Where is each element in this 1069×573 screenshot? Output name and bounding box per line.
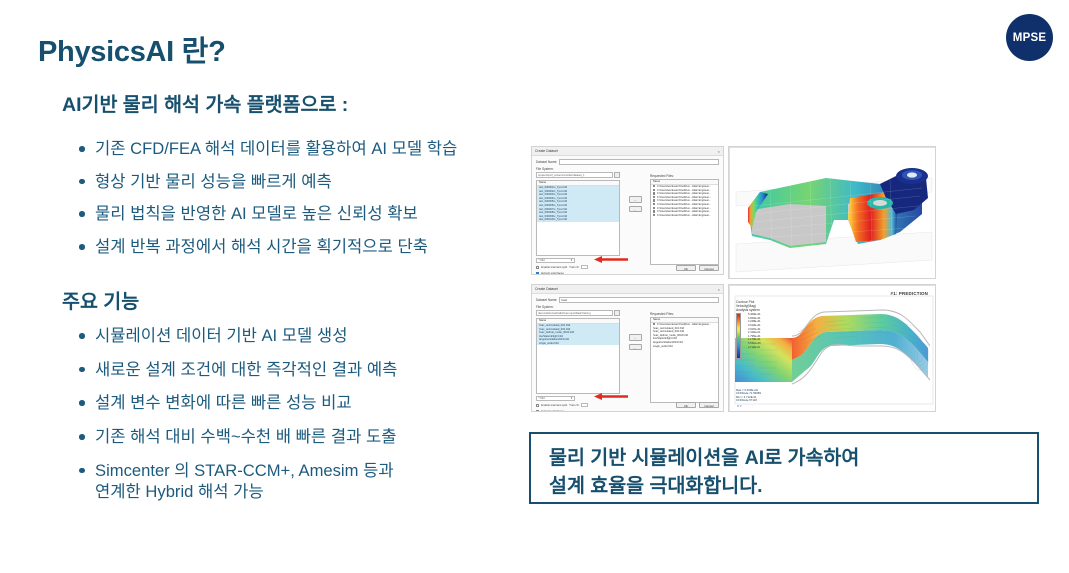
fea-viewport (729, 147, 935, 278)
dialog-footer: Ok Cancel (676, 265, 719, 272)
chevron-down-icon: ▾ (571, 396, 573, 402)
list-item: 기존 해석 대비 수백~수천 배 빠른 결과 도출 (78, 426, 397, 447)
cancel-button[interactable]: Cancel (699, 402, 719, 409)
mpse-logo: MPSE (1006, 14, 1053, 61)
red-arrow-annotation (594, 256, 628, 263)
list-item: 물리 법칙을 반영한 AI 모델로 높은 신뢰성 확보 (78, 203, 457, 224)
features-heading: 주요 기능 (62, 285, 139, 314)
extract-row[interactable]: Extract solid faces (536, 271, 620, 275)
split-pct-input[interactable] (581, 403, 588, 407)
axis-x-label: X (737, 404, 739, 408)
summary-callout-box: 물리 기반 시뮬레이션을 AI로 가속하여 설계 효율을 극대화합니다. (529, 432, 1039, 504)
cancel-button[interactable]: Cancel (699, 265, 719, 272)
extract-label: Extract solid faces (541, 271, 564, 275)
list-item: 설계 반복 과정에서 해석 시간을 획기적으로 단축 (78, 236, 457, 257)
screenshot-create-dataset-2: Create Dataset × Dataset Name: hvac File… (531, 284, 724, 412)
list-item-label: C:\Users\workuser\OneDrive - Altair Engi… (657, 214, 711, 217)
split-pct-input[interactable] (581, 265, 588, 269)
row-checkbox[interactable] (653, 214, 655, 216)
dataset-name-row: Dataset Name: (536, 159, 719, 165)
mpse-logo-text: MPSE (1013, 32, 1046, 44)
browse-button[interactable] (614, 172, 620, 178)
legend-colorbar (736, 313, 741, 359)
screenshot-fea-contour (728, 146, 936, 279)
list-item-label: C:\Users\workuser\OneDrive - Altair Engi… (657, 210, 711, 213)
available-files-list[interactable]: Name hvac_recirculated_001.h3d hvac_reci… (536, 318, 620, 394)
list-item: 설계 변수 변화에 따른 빠른 성능 비교 (78, 392, 397, 413)
file-filter-select[interactable]: *.h3d ▾ (536, 258, 575, 264)
list-item-label: C:\Users\workuser\OneDrive - Altair Engi… (657, 199, 711, 202)
path-row: /projects/ps/f_solver/controller/dataset… (536, 172, 620, 178)
cfd-minmax-annotation: Max = 5.460E+01 CFDNode 71.59689 Min = 4… (736, 389, 761, 404)
create-dataset-dialog: Create Dataset × Dataset Name: hvac File… (532, 285, 723, 411)
split-row[interactable]: Enable train/test split Train %: (536, 403, 620, 407)
requested-files-column: Requested Files: Name C:\Users\workuser\… (650, 310, 719, 403)
create-dataset-dialog: Create Dataset × Dataset Name: File Syst… (532, 147, 723, 274)
available-files-list[interactable]: Name test_000001rs_Tyre.h3d test_000002r… (536, 180, 620, 256)
row-checkbox[interactable] (653, 210, 655, 212)
path-row: /demo/HistoricalCalls/hvac-input/DataTra… (536, 310, 620, 316)
slide-root: MPSE PhysicsAI 란? AI기반 물리 해석 가속 플랫폼으로 : … (0, 0, 1069, 573)
cfd-legend: Contour Plot Velocity(Mag) Analysis syst… (736, 300, 760, 359)
add-files-button[interactable]: → (629, 196, 642, 203)
intro-bullet-list: 기존 CFD/FEA 해석 데이터를 활용하여 AI 모델 학습 형상 기반 물… (78, 138, 457, 269)
legend-tick-values: 5.460E+01 4.844E+01 4.228E+01 3.612E+01 … (748, 313, 761, 349)
dialog-title: Create Dataset (535, 149, 558, 153)
axis-triad-icon: X Y (737, 404, 742, 408)
row-checkbox[interactable] (653, 185, 655, 187)
dialog-titlebar: Create Dataset × (532, 285, 723, 294)
file-filter-value: *.h3d (539, 396, 545, 402)
page-title: PhysicsAI 란? (38, 28, 225, 70)
path-input[interactable]: /demo/HistoricalCalls/hvac-input/DataTra… (536, 310, 613, 316)
list-item-label: C:\Users\workuser\OneDrive - Altair Engi… (657, 203, 711, 206)
list-item[interactable]: test_000010rs_Tyre.h3d (537, 218, 619, 222)
list-item: 새로운 설계 조건에 대한 즉각적인 결과 예측 (78, 359, 397, 380)
row-checkbox[interactable] (653, 189, 655, 191)
extract-checkbox[interactable] (536, 272, 539, 275)
split-row[interactable]: Enable train/test split Train %: (536, 265, 620, 269)
browse-button[interactable] (614, 310, 620, 316)
dataset-name-input[interactable] (559, 159, 719, 165)
list-item-label: C:\Users\workuser\OneDrive - Altair Engi… (657, 192, 711, 195)
list-item: Simcenter 의 STAR-CCM+, Amesim 등과 연계한 Hyb… (78, 460, 397, 502)
requested-files-list[interactable]: Name C:\Users\workuser\OneDrive - Altair… (650, 317, 719, 403)
transfer-buttons: → ← (623, 310, 647, 350)
requested-files-label: Requested Files: (650, 312, 719, 316)
row-checkbox[interactable] (653, 196, 655, 198)
row-checkbox[interactable] (653, 203, 655, 205)
remove-files-button[interactable]: ← (629, 344, 642, 351)
add-files-button[interactable]: → (629, 334, 642, 341)
close-icon[interactable]: × (718, 149, 720, 154)
cfd-viewport: #1: PREDICTION Contour Plot Velocity(Mag… (729, 285, 935, 411)
list-item[interactable]: C:\Users\workuser\OneDrive - Altair Engi… (651, 213, 718, 217)
ok-button[interactable]: Ok (676, 265, 696, 272)
requested-files-column: Requested Files: Name C:\Users\workuser\… (650, 172, 719, 265)
list-item: 형상 기반 물리 성능을 빠르게 예측 (78, 171, 457, 192)
transfer-buttons: → ← (623, 172, 647, 212)
file-filter-select[interactable]: *.h3d ▾ (536, 396, 575, 402)
features-bullet-list: 시뮬레이션 데이터 기반 AI 모델 생성 새로운 설계 조건에 대한 즉각적인… (78, 325, 397, 515)
dataset-name-value: hvac (561, 298, 567, 302)
dialog-titlebar: Create Dataset × (532, 147, 723, 156)
split-checkbox[interactable] (536, 266, 539, 269)
remove-files-button[interactable]: ← (629, 206, 642, 213)
row-checkbox[interactable] (653, 192, 655, 194)
close-icon[interactable]: × (718, 287, 720, 292)
extract-label: Extract solid faces (541, 409, 564, 412)
list-item: 기존 CFD/FEA 해석 데이터를 활용하여 AI 모델 학습 (78, 138, 457, 159)
list-item[interactable]: single_outlet.h3d (651, 344, 718, 348)
row-checkbox[interactable] (653, 323, 655, 325)
file-system-label: File System: (536, 305, 719, 309)
callout-line-1: 물리 기반 시뮬레이션을 AI로 가속하여 (549, 445, 1037, 473)
path-input[interactable]: /projects/ps/f_solver/controller/dataset… (536, 172, 613, 178)
dataset-name-row: Dataset Name: hvac (536, 297, 719, 303)
extract-row[interactable]: Extract solid faces (536, 409, 620, 412)
split-pct-label: Train %: (569, 265, 579, 269)
axis-y-label: Y (740, 404, 742, 408)
chevron-down-icon: ▾ (571, 258, 573, 264)
file-system-label: File System: (536, 167, 719, 171)
legend-tick: 4.712E-01 (748, 346, 761, 350)
legend-system: Analysis system (736, 308, 760, 312)
split-label: Enable train/test split (541, 403, 567, 407)
list-item[interactable]: single_outlet.h3d (537, 342, 619, 346)
dataset-name-label: Dataset Name: (536, 298, 557, 302)
screenshot-create-dataset-1: Create Dataset × Dataset Name: File Syst… (531, 146, 724, 275)
dataset-name-label: Dataset Name: (536, 160, 557, 164)
extract-checkbox[interactable] (536, 410, 539, 412)
requested-files-list[interactable]: Name C:\Users\workuser\OneDrive - Altair… (650, 179, 719, 265)
subtitle: AI기반 물리 해석 가속 플랫폼으로 : (62, 88, 348, 117)
red-arrow-annotation (594, 393, 628, 400)
cfd-min-node: CFDNode 57118 (736, 399, 761, 403)
legend-tick: 5.631E+00 (748, 342, 761, 346)
screenshot-cfd-contour: #1: PREDICTION Contour Plot Velocity(Mag… (728, 284, 936, 412)
cfd-prediction-label: #1: PREDICTION (891, 291, 928, 296)
list-item: 시뮬레이션 데이터 기반 AI 모델 생성 (78, 325, 397, 346)
ok-button[interactable]: Ok (676, 402, 696, 409)
callout-line-2: 설계 효율을 극대화합니다. (549, 473, 1037, 501)
list-item[interactable]: C:\Users\workuser\OneDrive - Altair Engi… (651, 323, 718, 327)
split-checkbox[interactable] (536, 404, 539, 407)
split-label: Enable train/test split (541, 265, 567, 269)
fea-model-graphic (730, 148, 936, 279)
row-checkbox[interactable] (653, 207, 655, 209)
list-item-label: C:\Users\workuser\OneDrive - Altair Engi… (657, 185, 711, 188)
split-pct-label: Train %: (569, 403, 579, 407)
file-filter-value: *.h3d (539, 258, 545, 264)
row-checkbox[interactable] (653, 199, 655, 201)
dataset-name-input[interactable]: hvac (559, 297, 719, 303)
list-item-label: C:\Users\workuser\OneDrive - Altair Engi… (657, 323, 711, 326)
dialog-footer: Ok Cancel (676, 402, 719, 409)
dialog-title: Create Dataset (535, 287, 558, 291)
requested-files-label: Requested Files: (650, 174, 719, 178)
